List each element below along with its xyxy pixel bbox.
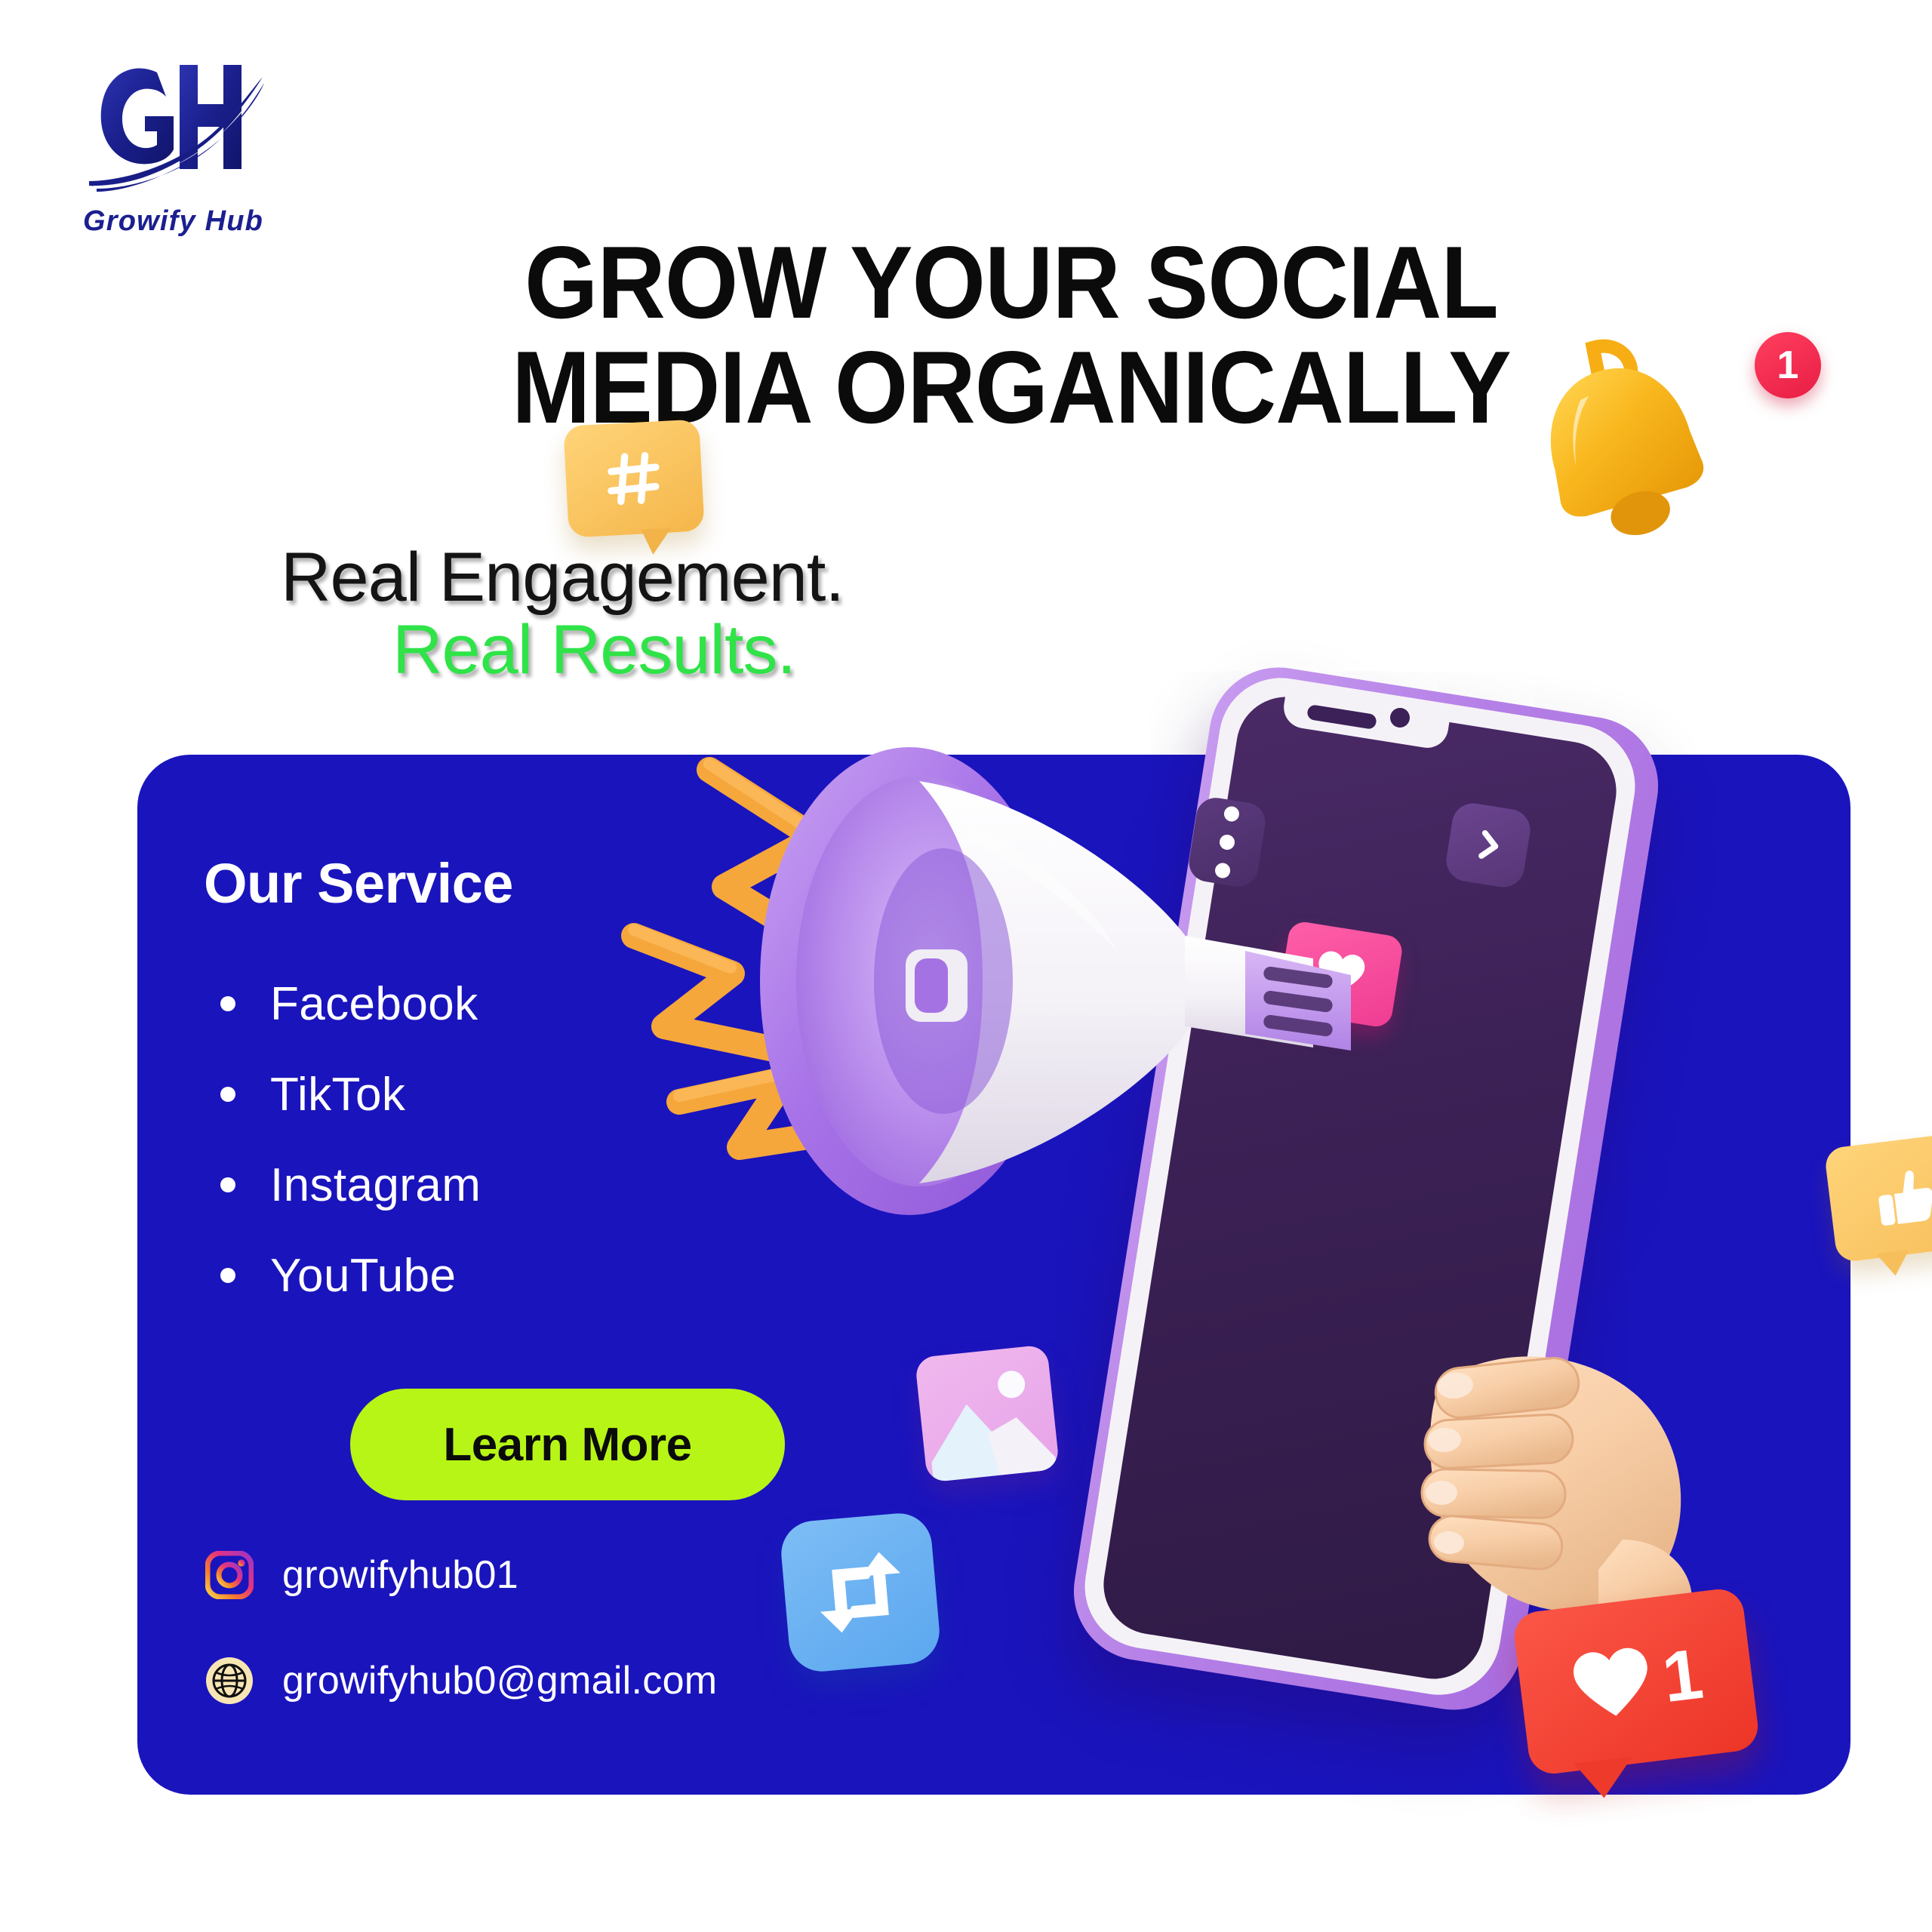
hero-illustration: 1 (966, 528, 1932, 1879)
service-label: Instagram (270, 1158, 481, 1212)
bullet-icon (220, 1268, 235, 1283)
hashtag-bubble-icon (563, 419, 704, 537)
service-item-facebook: Facebook (220, 958, 481, 1049)
page-headline: GROW YOUR SOCIAL MEDIA ORGANICALLY (380, 230, 1643, 439)
brand-logo: Growify Hub (75, 38, 294, 264)
hand-icon (1396, 1313, 1698, 1630)
bell-badge-count: 1 (1755, 332, 1821, 398)
gh-monogram-icon (75, 38, 264, 200)
instagram-handle: growifyhub01 (282, 1552, 518, 1598)
brand-wordmark: Growify Hub (83, 205, 287, 238)
service-label: Facebook (270, 977, 478, 1031)
image-icon (915, 1344, 1060, 1482)
bullet-icon (220, 996, 235, 1011)
like-count: 1 (1659, 1638, 1706, 1714)
service-label: TikTok (270, 1068, 405, 1121)
bullet-icon (220, 1087, 235, 1102)
chevron-right-icon[interactable] (1444, 801, 1534, 891)
services-title: Our Service (204, 851, 513, 915)
megaphone-icon (717, 709, 1396, 1268)
repost-icon (779, 1511, 943, 1675)
service-item-youtube: YouTube (220, 1230, 481, 1321)
services-list: Facebook TikTok Instagram YouTube (220, 958, 481, 1321)
contact-instagram[interactable]: growifyhub01 (205, 1551, 518, 1599)
thumbs-up-bubble-icon (1823, 1131, 1932, 1263)
service-label: YouTube (270, 1249, 456, 1303)
like-heart-badge: 1 (1512, 1586, 1761, 1777)
service-item-instagram: Instagram (220, 1140, 481, 1230)
learn-more-button[interactable]: Learn More (350, 1389, 785, 1500)
bullet-icon (220, 1177, 235, 1192)
email-address: growifyhub0@gmail.com (282, 1658, 717, 1703)
contact-email[interactable]: growifyhub0@gmail.com (205, 1657, 717, 1705)
globe-icon (205, 1657, 254, 1705)
notification-bell-icon (1517, 325, 1721, 543)
service-item-tiktok: TikTok (220, 1049, 481, 1140)
instagram-icon (205, 1551, 254, 1599)
